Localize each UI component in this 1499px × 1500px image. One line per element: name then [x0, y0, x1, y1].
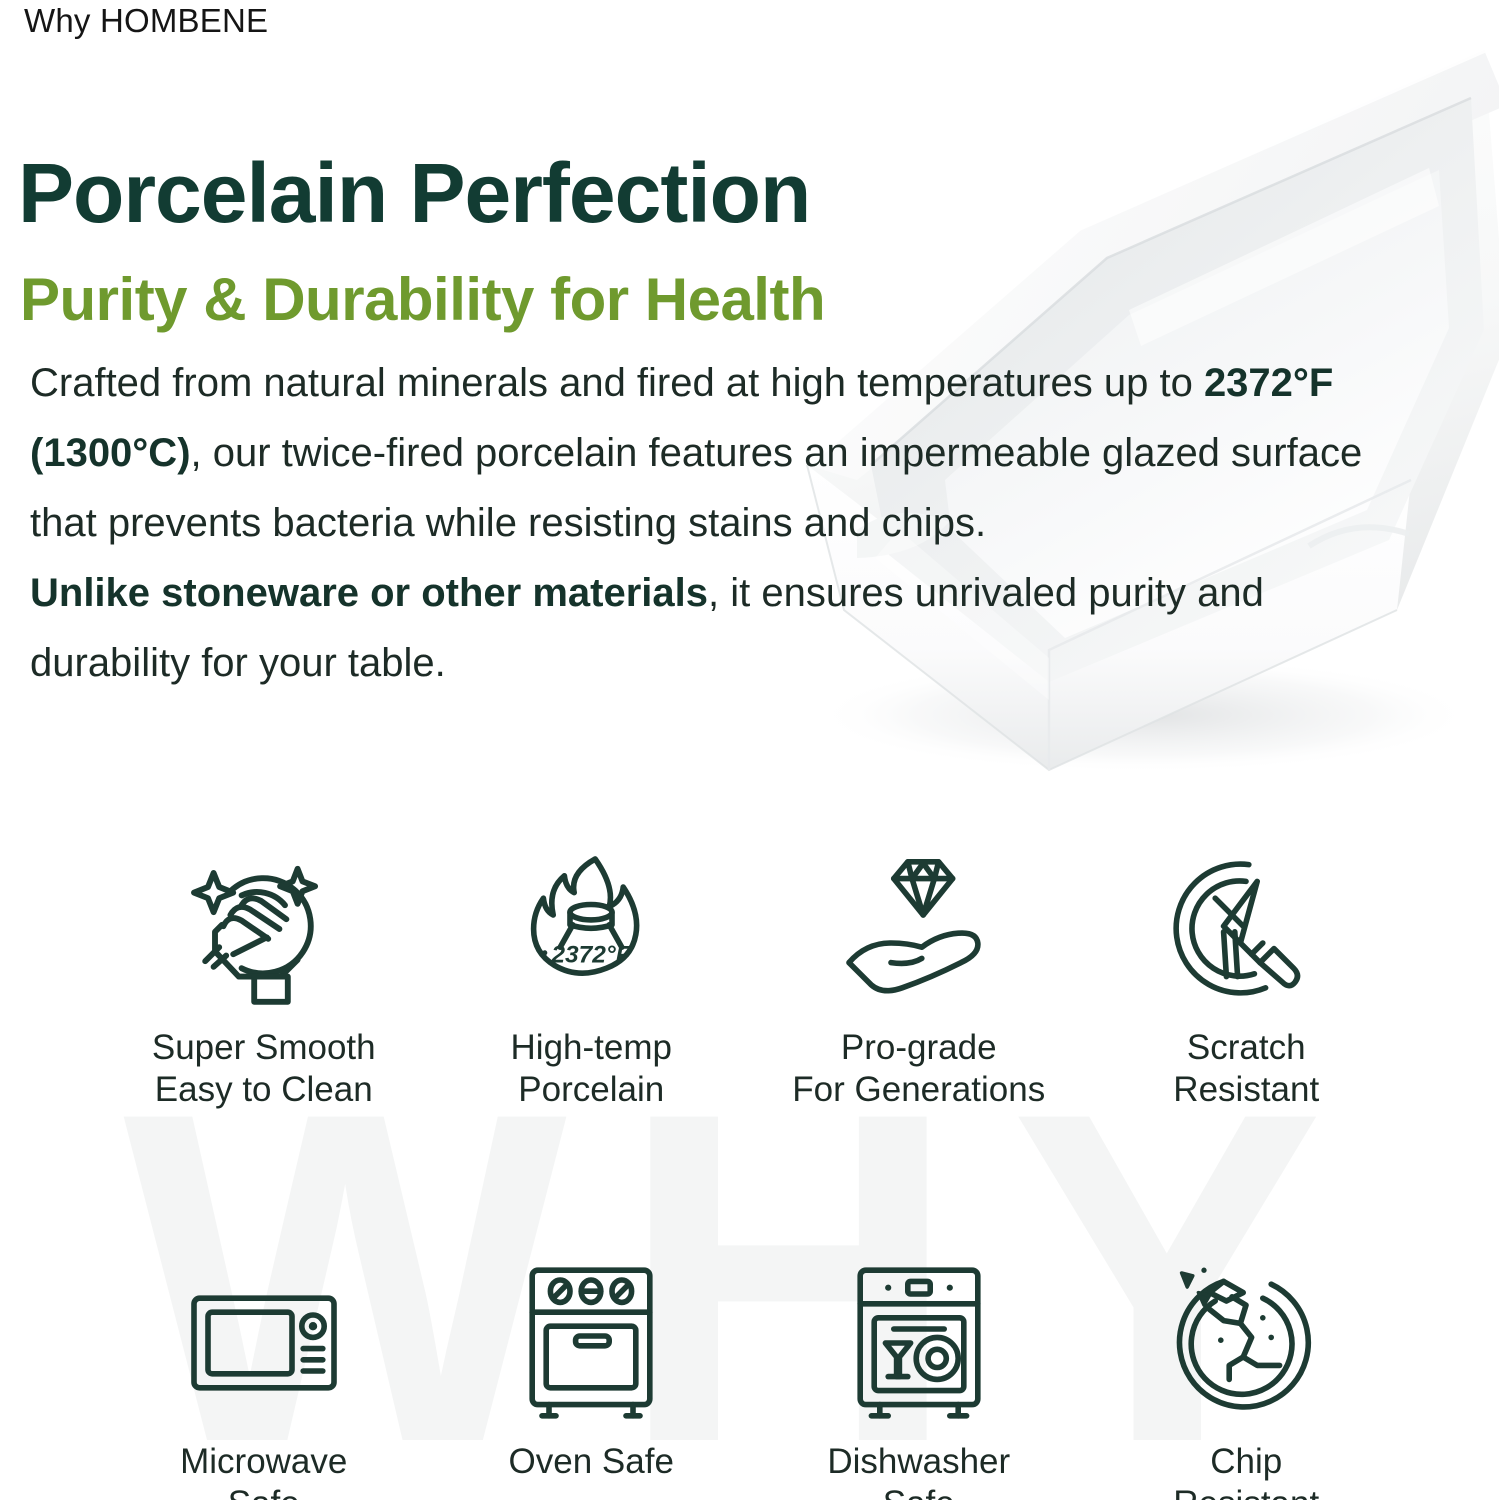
feature-label: High-temp Porcelain [511, 1027, 672, 1111]
feature-label: Pro-grade For Generations [792, 1027, 1045, 1111]
feature-item-dishwasher-safe: Dishwasher Safe [755, 1259, 1083, 1500]
feature-item-microwave-safe: Microwave Safe [100, 1259, 428, 1500]
sparkle-wipe-hand-icon [180, 845, 348, 1013]
flame-temperature-icon: 2372°F [507, 845, 675, 1013]
feature-item-super-smooth: Super Smooth Easy to Clean [100, 845, 428, 1111]
plate-knife-scratch-icon [1162, 845, 1330, 1013]
flame-badge-text: 2372°F [551, 942, 632, 969]
hand-diamond-icon [835, 845, 1003, 1013]
feature-item-high-temp: 2372°F High-temp Porcelain [428, 845, 756, 1111]
product-infographic-page: WHY [0, 0, 1499, 1500]
description-paragraph: Crafted from natural minerals and fired … [30, 348, 1425, 698]
dishwasher-icon [835, 1259, 1003, 1427]
desc-part-2: , our twice-fired porcelain features an … [30, 431, 1362, 545]
feature-label: Oven Safe [509, 1441, 674, 1483]
feature-label: Dishwasher Safe [827, 1441, 1010, 1500]
desc-unlike-bold: Unlike stoneware or other materials [30, 571, 708, 615]
feature-label: Super Smooth Easy to Clean [152, 1027, 376, 1111]
feature-label: Chip Resistant [1173, 1441, 1319, 1500]
feature-label: Microwave Safe [180, 1441, 347, 1500]
desc-paragraph-2: Unlike stoneware or other materials, it … [30, 558, 1425, 698]
feature-icon-grid: Super Smooth Easy to Clean 2372°F High-t… [100, 845, 1410, 1500]
feature-item-scratch-resistant: Scratch Resistant [1083, 845, 1411, 1111]
page-subtitle: Purity & Durability for Health [20, 270, 825, 330]
page-title: Porcelain Perfection [18, 151, 810, 235]
feature-item-chip-resistant: Chip Resistant [1083, 1259, 1411, 1500]
feature-item-oven-safe: Oven Safe [428, 1259, 756, 1500]
feature-item-pro-grade: Pro-grade For Generations [755, 845, 1083, 1111]
cracked-plate-icon [1162, 1259, 1330, 1427]
oven-icon [507, 1259, 675, 1427]
brand-eyebrow: Why HOMBENE [24, 2, 268, 40]
microwave-icon [180, 1259, 348, 1427]
feature-label: Scratch Resistant [1173, 1027, 1319, 1111]
desc-part-1: Crafted from natural minerals and fired … [30, 361, 1204, 405]
